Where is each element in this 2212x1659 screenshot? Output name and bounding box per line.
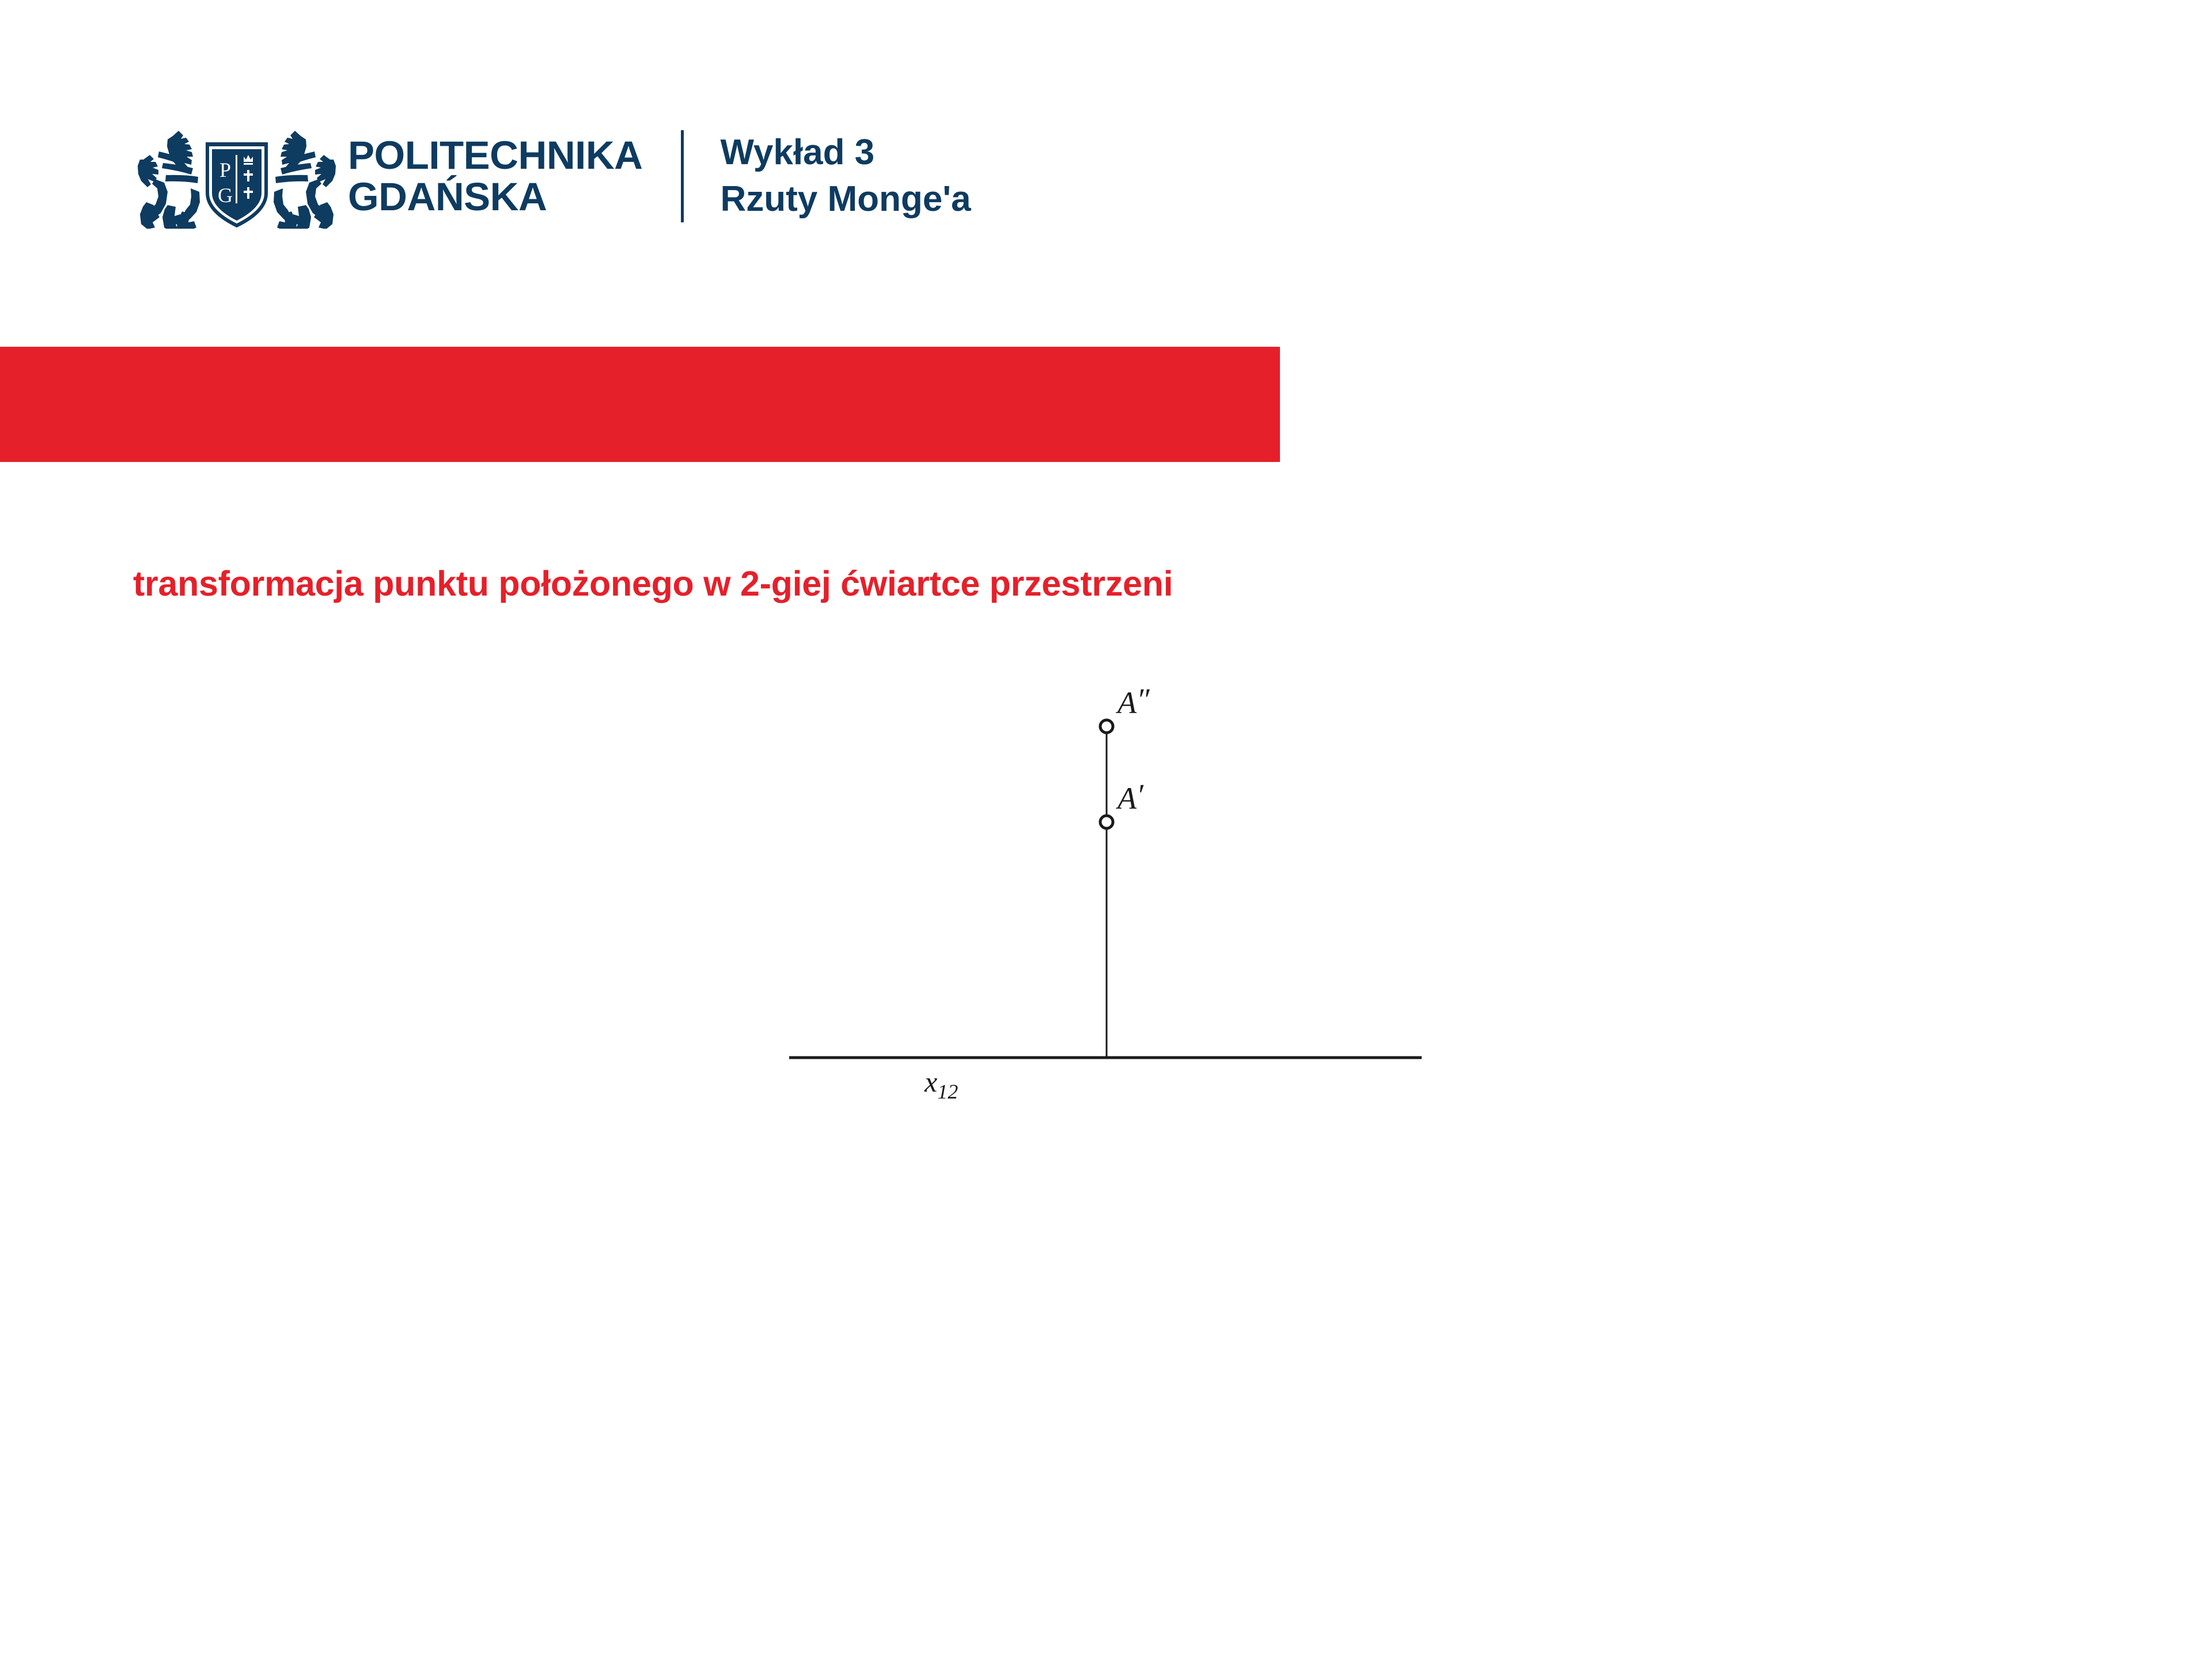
slide-canvas: P G POLITECHNIKA GDAŃSKA Wykład 3 Rzuty …: [0, 0, 2212, 1659]
point-a-double-prime-label: A″: [1116, 682, 1150, 720]
section-banner-title: Transormacje - szczególne przypadki: [138, 0, 942, 115]
brand-header: P G POLITECHNIKA GDAŃSKA Wykład 3 Rzuty …: [136, 119, 971, 234]
axis-x12-label: x12: [924, 1066, 958, 1103]
politechnika-gdanska-crest-icon: P G: [136, 124, 338, 229]
point-a-double-prime-marker: [1100, 720, 1113, 733]
monge-projection-diagram: A″ A′ x12: [749, 645, 1469, 1118]
lecture-number: Wykład 3: [721, 130, 971, 176]
point-a-prime-label: A′: [1116, 778, 1144, 816]
diagram-svg: A″ A′ x12: [749, 645, 1469, 1118]
lecture-title: Rzuty Monge'a: [721, 176, 971, 223]
section-banner: [0, 347, 1280, 462]
point-a-prime-marker: [1100, 816, 1113, 828]
lecture-heading: Wykład 3 Rzuty Monge'a: [721, 130, 971, 222]
svg-text:G: G: [218, 184, 233, 207]
slide-subtitle: transformacja punktu położonego w 2-giej…: [133, 563, 1173, 604]
brand-divider: [681, 130, 684, 222]
pg-wordmark: POLITECHNIKA GDAŃSKA: [348, 135, 643, 218]
svg-text:P: P: [219, 158, 231, 181]
